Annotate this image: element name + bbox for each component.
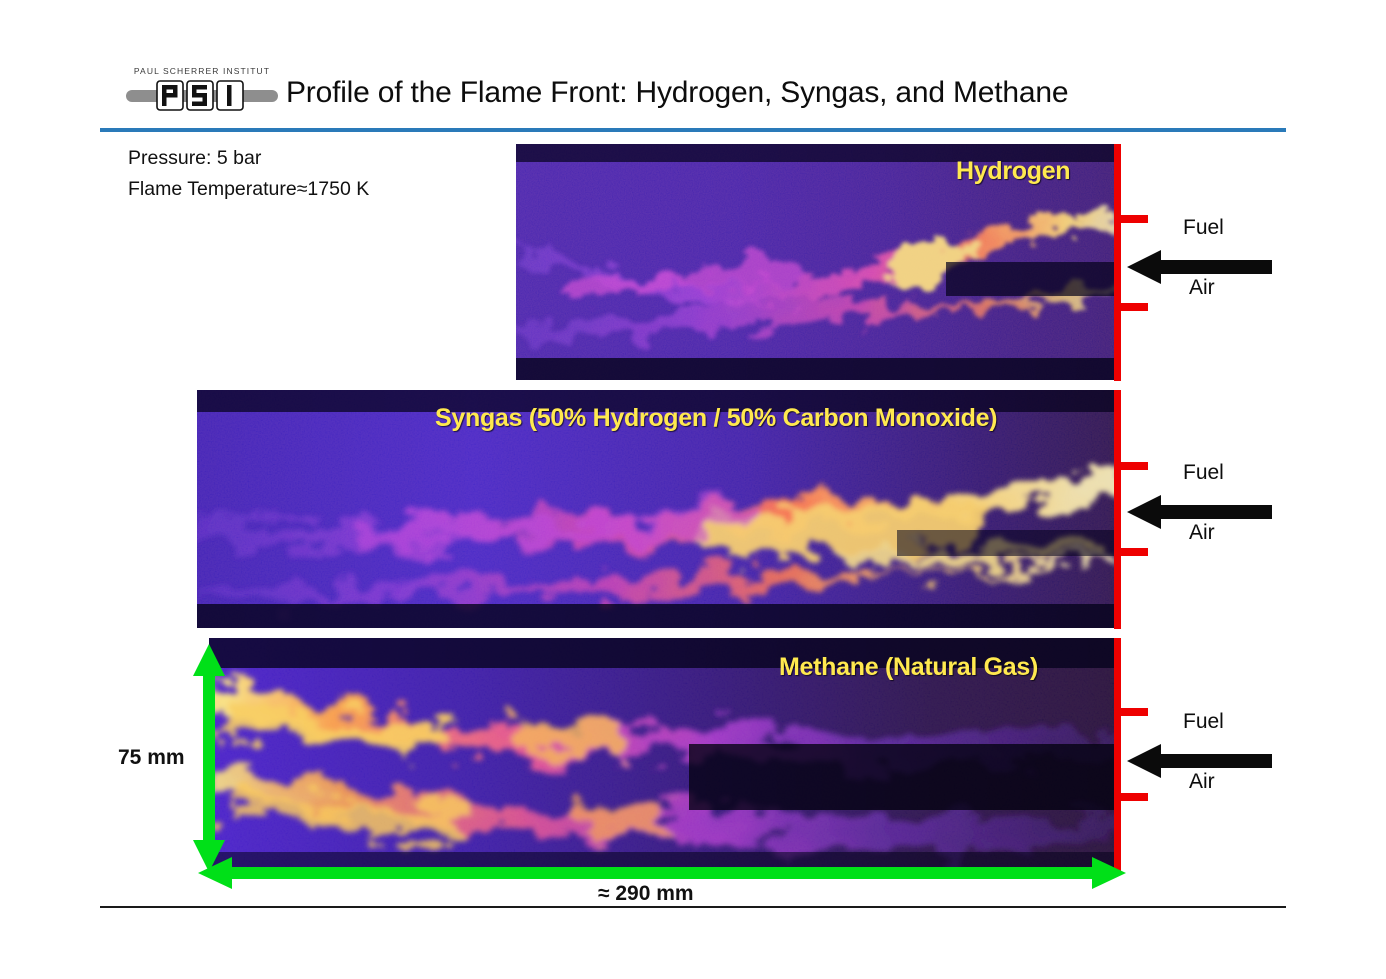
height-dimension-arrow-icon (192, 644, 226, 872)
page-title: Profile of the Flame Front: Hydrogen, Sy… (286, 76, 1068, 110)
fuel-label: Fuel (1183, 710, 1224, 734)
fuel-label: Fuel (1183, 461, 1224, 485)
air-label: Air (1189, 770, 1215, 794)
psi-logo: PAUL SCHERRER INSTITUT (126, 66, 278, 112)
panel-label-methane: Methane (Natural Gas) (779, 653, 1038, 682)
bracket-stem (1114, 144, 1121, 381)
height-dimension-label: 75 mm (118, 746, 185, 770)
air-label: Air (1189, 521, 1215, 545)
feed-annotation-hydrogen: Fuel Air (1127, 216, 1317, 326)
feed-annotation-syngas: Fuel Air (1127, 461, 1317, 571)
psi-logo-mark-icon (126, 79, 278, 112)
bracket-stem (1114, 390, 1121, 629)
footer-divider (100, 906, 1286, 908)
flame-temperature-text: Flame Temperature≈1750 K (128, 174, 369, 205)
fuel-label: Fuel (1183, 216, 1224, 240)
psi-logo-wordmark: PAUL SCHERRER INSTITUT (126, 66, 278, 76)
width-dimension-label: ≈ 290 mm (598, 882, 694, 906)
header-divider (100, 128, 1286, 132)
slide-header: PAUL SCHERRER INSTITUT Profile o (0, 0, 1386, 132)
bracket-stem (1114, 638, 1121, 872)
pressure-text: Pressure: 5 bar (128, 143, 369, 174)
air-label: Air (1189, 276, 1215, 300)
operating-conditions: Pressure: 5 bar Flame Temperature≈1750 K (128, 143, 369, 205)
panel-label-hydrogen: Hydrogen (956, 157, 1070, 186)
feed-annotation-methane: Fuel Air (1127, 710, 1317, 820)
panel-label-syngas: Syngas (50% Hydrogen / 50% Carbon Monoxi… (435, 404, 997, 433)
